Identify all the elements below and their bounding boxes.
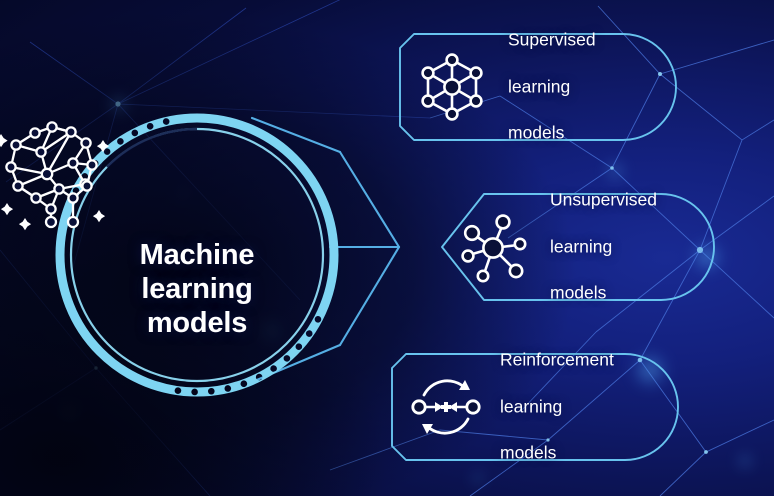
- branch-label-line-1: Reinforcement: [500, 349, 614, 372]
- infographic-canvas: Machine learning models Su: [0, 0, 774, 496]
- branch-label-reinforcement: Reinforcement learning models: [500, 326, 614, 489]
- branch-label-line-1: Unsupervised: [550, 189, 657, 212]
- hexagon-lattice-network-icon: [416, 51, 488, 123]
- brain-network-icon: [0, 110, 115, 234]
- branch-reinforcement[interactable]: Reinforcement learning models: [390, 352, 680, 462]
- hub-title-line-3: models: [52, 306, 342, 340]
- circular-arrows-feedback-icon: [408, 371, 484, 443]
- branch-label-line-1: Supervised: [508, 29, 596, 52]
- hub-circle[interactable]: Machine learning models: [52, 110, 342, 400]
- hub-title-line-1: Machine: [52, 238, 342, 272]
- branch-supervised[interactable]: Supervised learning models: [398, 32, 678, 142]
- hub-title-line-2: learning: [52, 272, 342, 306]
- branch-unsupervised[interactable]: Unsupervised learning models: [440, 192, 716, 302]
- branch-label-line-2: learning: [500, 395, 614, 418]
- hub-and-spoke-cluster-icon: [458, 210, 532, 284]
- branch-label-supervised: Supervised learning models: [508, 6, 596, 169]
- branch-label-line-3: models: [550, 282, 657, 305]
- branch-label-unsupervised: Unsupervised learning models: [550, 166, 657, 329]
- hub-title: Machine learning models: [52, 238, 342, 341]
- branch-label-line-2: learning: [550, 235, 657, 258]
- branch-label-line-3: models: [508, 122, 596, 145]
- branch-label-line-2: learning: [508, 75, 596, 98]
- branch-label-line-3: models: [500, 442, 614, 465]
